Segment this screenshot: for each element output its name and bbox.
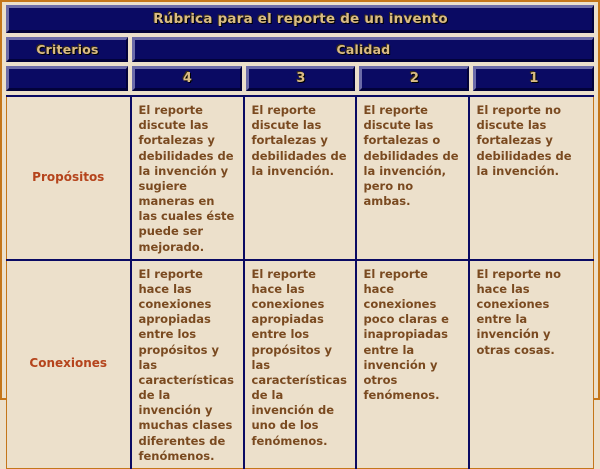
cell-conexiones-4: El reporte hace las conexiones apropiada…: [131, 260, 244, 469]
score-header-row: 4 3 2 1: [6, 66, 594, 91]
header-calidad: Calidad: [132, 37, 594, 62]
group-header-row: Criterios Calidad: [6, 37, 594, 62]
rubric-container: Rúbrica para el reporte de un invento Cr…: [0, 0, 600, 400]
header-blank-corner: [6, 66, 128, 91]
cell-propositos-3: El reporte discute las fortalezas y debi…: [244, 96, 356, 260]
cell-propositos-2: El reporte discute las fortalezas o debi…: [356, 96, 469, 260]
table-row: Conexiones El reporte hace las conexione…: [7, 260, 594, 469]
header-score-4: 4: [132, 66, 242, 91]
title-row: Rúbrica para el reporte de un invento: [6, 5, 594, 33]
rubric-table: Propósitos El reporte discute las fortal…: [6, 95, 594, 469]
cell-propositos-4: El reporte discute las fortalezas y debi…: [131, 96, 244, 260]
header-score-3: 3: [246, 66, 355, 91]
criterion-label-propositos: Propósitos: [7, 96, 131, 260]
header-score-1: 1: [473, 66, 594, 91]
rubric-title: Rúbrica para el reporte de un invento: [6, 5, 594, 33]
criterion-label-conexiones: Conexiones: [7, 260, 131, 469]
table-row: Propósitos El reporte discute las fortal…: [7, 96, 594, 260]
cell-conexiones-3: El reporte hace las conexiones apropiada…: [244, 260, 356, 469]
cell-conexiones-2: El reporte hace conexiones poco claras e…: [356, 260, 469, 469]
header-criterios: Criterios: [6, 37, 128, 62]
header-score-2: 2: [359, 66, 469, 91]
cell-conexiones-1: El reporte no hace las conexiones entre …: [469, 260, 594, 469]
cell-propositos-1: El reporte no discute las fortalezas y d…: [469, 96, 594, 260]
